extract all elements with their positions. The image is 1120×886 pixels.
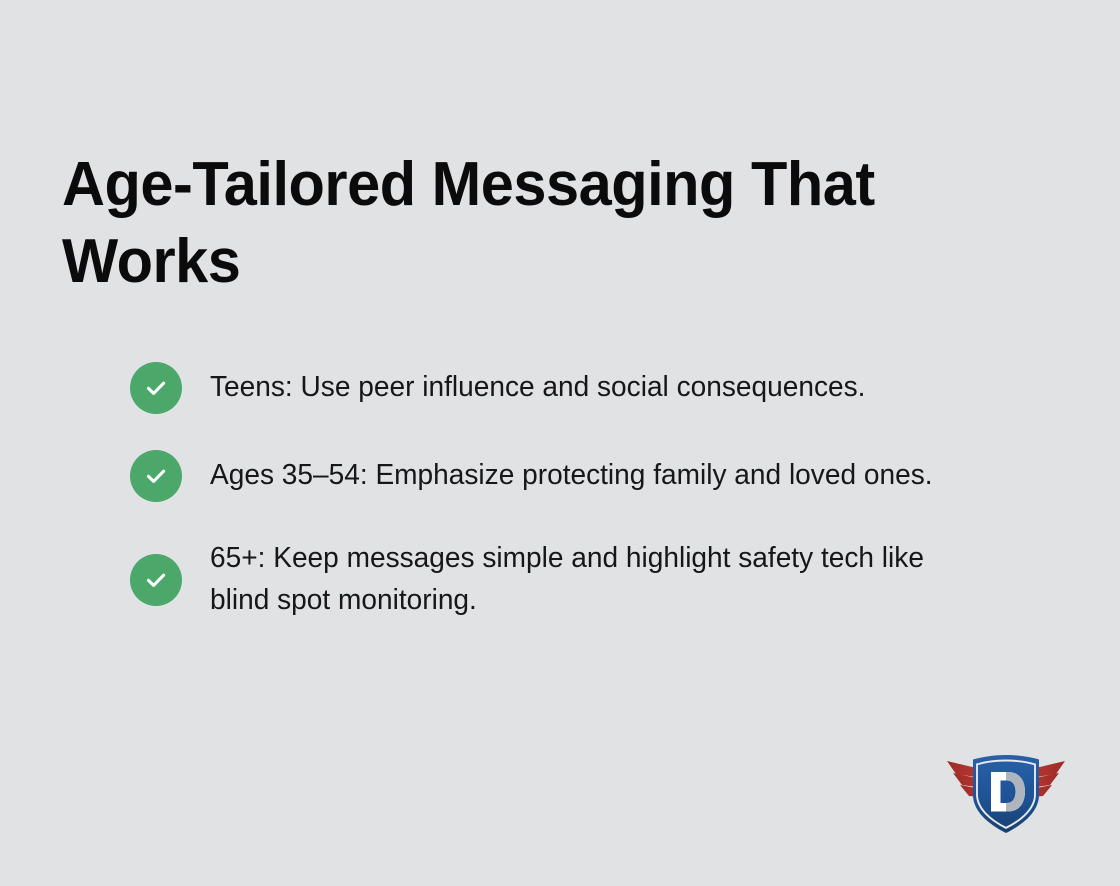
list-item: Ages 35–54: Emphasize protecting family …: [130, 450, 1010, 502]
check-icon: [130, 554, 182, 606]
logo-shield: [973, 755, 1039, 833]
list-item-label: 65+: Keep messages simple and highlight …: [210, 538, 984, 622]
page-title: Age-Tailored Messaging That Works: [62, 146, 964, 301]
check-icon: [130, 362, 182, 414]
list-item: 65+: Keep messages simple and highlight …: [130, 538, 1010, 622]
winged-shield-d-logo: [944, 748, 1068, 838]
list-item-label: Teens: Use peer influence and social con…: [210, 367, 865, 409]
check-icon: [130, 450, 182, 502]
slide-canvas: Age-Tailored Messaging That Works Teens:…: [0, 0, 1120, 886]
list-item-label: Ages 35–54: Emphasize protecting family …: [210, 455, 933, 497]
bullet-list: Teens: Use peer influence and social con…: [130, 362, 1010, 622]
list-item: Teens: Use peer influence and social con…: [130, 362, 1010, 414]
